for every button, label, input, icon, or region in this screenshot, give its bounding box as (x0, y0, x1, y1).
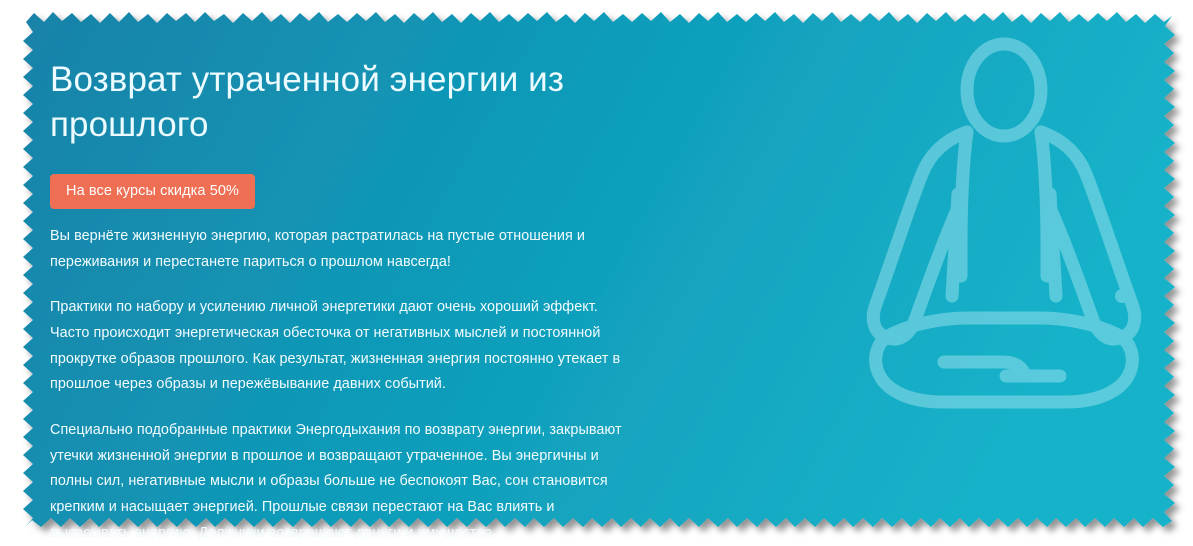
badge-container: На все курсы скидка 50% (50, 174, 635, 210)
promo-banner: Возврат утраченной энергии из прошлого Н… (0, 0, 1193, 541)
paragraph-2: Практики по набору и усилению личной эне… (50, 295, 635, 398)
description-paragraphs: Вы вернёте жизненную энергию, которая ра… (50, 224, 635, 546)
paragraph-3: Специально подобранные практики Энергоды… (50, 418, 635, 546)
paragraph-1: Вы вернёте жизненную энергию, которая ра… (50, 224, 635, 275)
banner-content: Возврат утраченной энергии из прошлого Н… (0, 0, 1193, 541)
banner-text-column: Возврат утраченной энергии из прошлого Н… (50, 58, 635, 546)
page-title: Возврат утраченной энергии из прошлого (50, 58, 635, 148)
meditating-person-icon (834, 28, 1174, 420)
discount-badge[interactable]: На все курсы скидка 50% (50, 174, 255, 210)
